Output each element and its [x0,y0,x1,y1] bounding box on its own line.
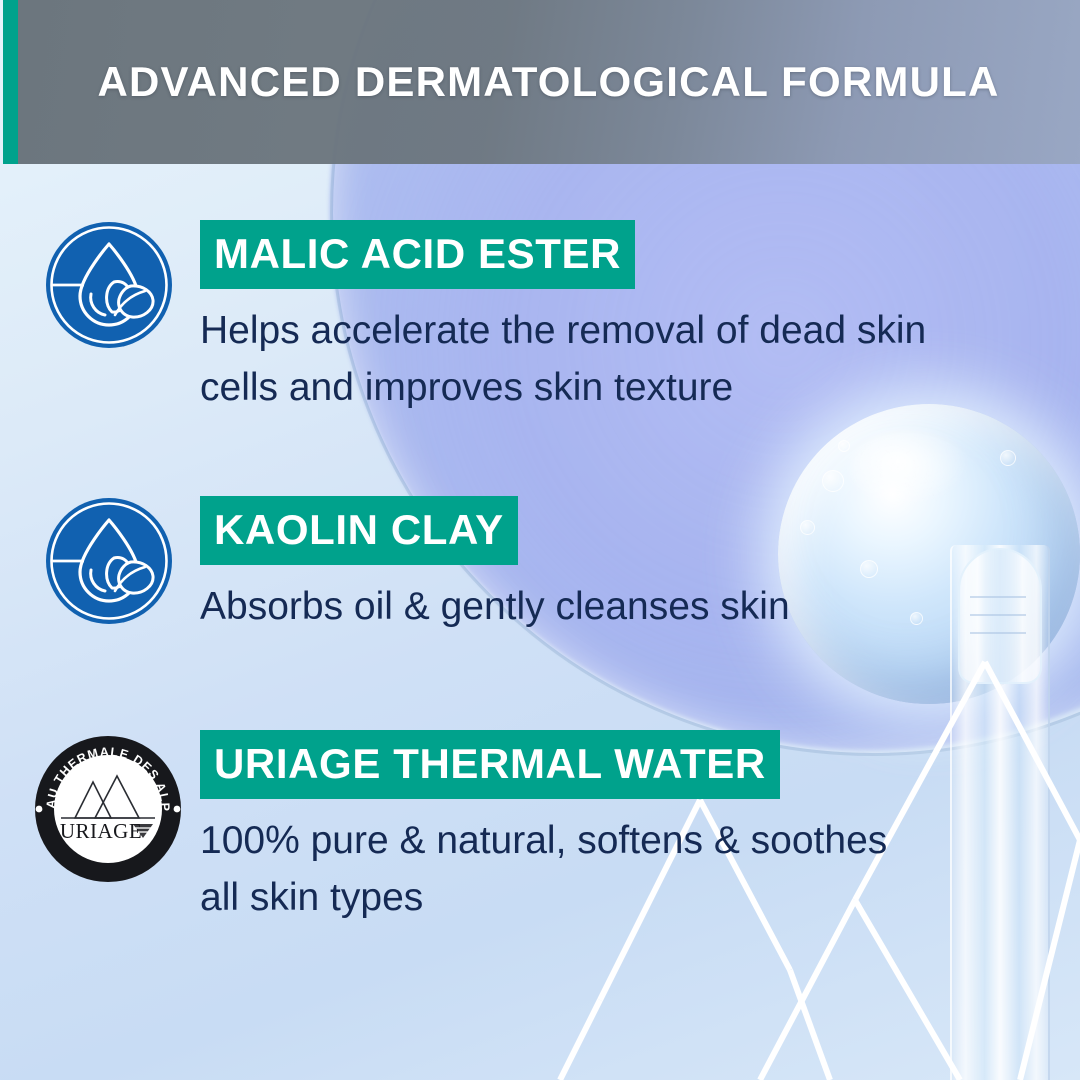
feature-description-line: Helps accelerate the removal of dead ski… [200,303,926,360]
page-title: ADVANCED DERMATOLOGICAL FORMULA [17,0,1080,164]
feature-description-line: Absorbs oil & gently cleanses skin [200,579,790,636]
header-accent-bar [3,0,18,164]
seal-brand-text: URIAGE [60,819,142,843]
feature-title: KAOLIN CLAY [200,496,518,565]
feature-item-uriage-thermal-water: L'EAU THERMALE DES ALPES FRENCH ALPS THE… [28,730,887,926]
feature-description: 100% pure & natural, softens & soothes a… [200,813,887,926]
feature-title: MALIC ACID ESTER [200,220,635,289]
water-drop-leaf-icon [44,220,174,350]
feature-icon-slot [42,496,176,626]
header-banner: ADVANCED DERMATOLOGICAL FORMULA [0,0,1080,164]
feature-description: Helps accelerate the removal of dead ski… [200,303,926,416]
feature-icon-slot [42,220,176,350]
uriage-thermal-water-seal-icon: L'EAU THERMALE DES ALPES FRENCH ALPS THE… [33,734,183,884]
feature-text-block: URIAGE THERMAL WATER 100% pure & natural… [188,730,887,926]
feature-title: URIAGE THERMAL WATER [200,730,780,799]
feature-icon-slot: L'EAU THERMALE DES ALPES FRENCH ALPS THE… [28,730,188,884]
feature-text-block: MALIC ACID ESTER Helps accelerate the re… [176,220,926,416]
feature-description-line: all skin types [200,870,887,927]
feature-description-line: 100% pure & natural, softens & soothes [200,813,887,870]
product-infographic: ADVANCED DERMATOLOGICAL FORMULA MALIC AC… [0,0,1080,1080]
feature-text-block: KAOLIN CLAY Absorbs oil & gently cleanse… [176,496,790,636]
feature-item-kaolin-clay: KAOLIN CLAY Absorbs oil & gently cleanse… [42,496,790,636]
feature-description: Absorbs oil & gently cleanses skin [200,579,790,636]
feature-item-malic-acid-ester: MALIC ACID ESTER Helps accelerate the re… [42,220,926,416]
feature-description-line: cells and improves skin texture [200,360,926,417]
water-drop-leaf-icon [44,496,174,626]
